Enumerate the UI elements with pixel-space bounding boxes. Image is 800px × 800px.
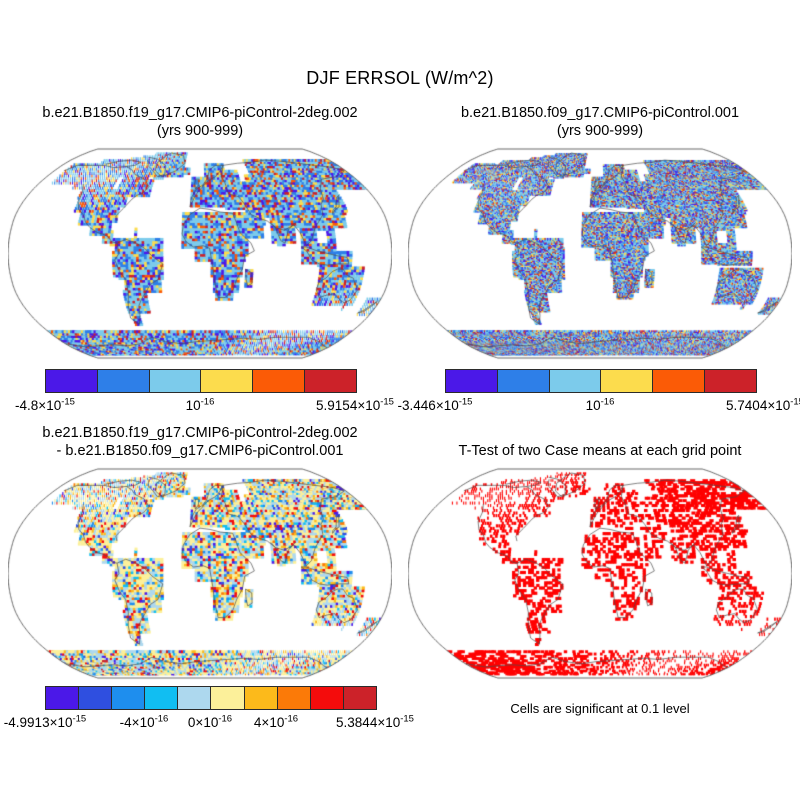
panel-top-left: b.e21.B1850.f19_g17.CMIP6-piControl-2deg… (0, 104, 400, 414)
colorbar-segment (112, 687, 145, 709)
map-bottom-left (8, 466, 392, 681)
colorbar-tick-label: -4.9913×10-15 (4, 715, 86, 730)
colorbar-segment (446, 370, 498, 392)
colorbar-segment (344, 687, 376, 709)
colorbar-segment (278, 687, 311, 709)
panel-title-line: (yrs 900-999) (400, 122, 800, 140)
panel-bottom-right: T-Test of two Case means at each grid po… (400, 424, 800, 744)
colorbar-segment (653, 370, 705, 392)
colorbar-tick-label: -4.8×10-15 (15, 398, 75, 413)
colorbar-segment (46, 370, 98, 392)
colorbar-tick-label: 10-16 (186, 398, 215, 413)
colorbar-top-left (45, 369, 357, 393)
panel-title-bottom-right: T-Test of two Case means at each grid po… (400, 442, 800, 460)
map-canvas (408, 146, 792, 361)
colorbar-labels-top-right: -3.446×10-1510-165.7404×10-15 (435, 398, 765, 418)
colorbar-bottom-left (45, 686, 377, 710)
panel-title-line: b.e21.B1850.f09_g17.CMIP6-piControl.001 (400, 104, 800, 122)
colorbar-segment (46, 687, 79, 709)
panel-title-line: b.e21.B1850.f19_g17.CMIP6-piControl-2deg… (0, 104, 400, 122)
map-canvas (8, 146, 392, 361)
colorbar-segment (79, 687, 112, 709)
colorbar-segment (201, 370, 253, 392)
panel-top-right: b.e21.B1850.f09_g17.CMIP6-piControl.001 … (400, 104, 800, 414)
panel-title-line: - b.e21.B1850.f09_g17.CMIP6-piControl.00… (0, 442, 400, 460)
colorbar-top-right (445, 369, 757, 393)
panel-title-bottom-left: b.e21.B1850.f19_g17.CMIP6-piControl-2deg… (0, 424, 400, 460)
panel-bottom-left: b.e21.B1850.f19_g17.CMIP6-piControl-2deg… (0, 424, 400, 744)
colorbar-tick-label: 4×10-16 (254, 715, 298, 730)
panel-title-line: (yrs 900-999) (0, 122, 400, 140)
colorbar-segment (98, 370, 150, 392)
colorbar-tick-label: 10-16 (586, 398, 615, 413)
map-canvas (408, 466, 792, 681)
colorbar-segment (705, 370, 756, 392)
colorbar-segment (150, 370, 202, 392)
colorbar-tick-label: 0×10-16 (188, 715, 232, 730)
colorbar-labels-bottom-left: -4.9913×10-15-4×10-160×10-164×10-165.384… (45, 715, 375, 735)
colorbar-labels-top-left: -4.8×10-1510-165.9154×10-15 (45, 398, 355, 418)
map-top-left (8, 146, 392, 361)
colorbar-tick-label: 5.7404×10-15 (726, 398, 800, 413)
colorbar-segment (311, 687, 344, 709)
colorbar-tick-label: -4×10-16 (120, 715, 169, 730)
colorbar-tick-label: 5.9154×10-15 (316, 398, 394, 413)
figure-title: DJF ERRSOL (W/m^2) (0, 68, 800, 89)
panel-title-line: T-Test of two Case means at each grid po… (400, 442, 800, 460)
colorbar-segment (245, 687, 278, 709)
map-top-right (408, 146, 792, 361)
map-bottom-right (408, 466, 792, 681)
colorbar-segment (498, 370, 550, 392)
panel-title-top-left: b.e21.B1850.f19_g17.CMIP6-piControl-2deg… (0, 104, 400, 140)
map-canvas (8, 466, 392, 681)
colorbar-segment (550, 370, 602, 392)
figure-canvas: DJF ERRSOL (W/m^2) b.e21.B1850.f19_g17.C… (0, 0, 800, 800)
colorbar-segment (601, 370, 653, 392)
colorbar-segment (305, 370, 356, 392)
colorbar-tick-label: -3.446×10-15 (398, 398, 473, 413)
colorbar-segment (178, 687, 211, 709)
colorbar-segment (145, 687, 178, 709)
panel-title-line: b.e21.B1850.f19_g17.CMIP6-piControl-2deg… (0, 424, 400, 442)
ttest-footnote: Cells are significant at 0.1 level (400, 701, 800, 716)
colorbar-segment (211, 687, 244, 709)
colorbar-segment (253, 370, 305, 392)
panel-title-top-right: b.e21.B1850.f09_g17.CMIP6-piControl.001 … (400, 104, 800, 140)
